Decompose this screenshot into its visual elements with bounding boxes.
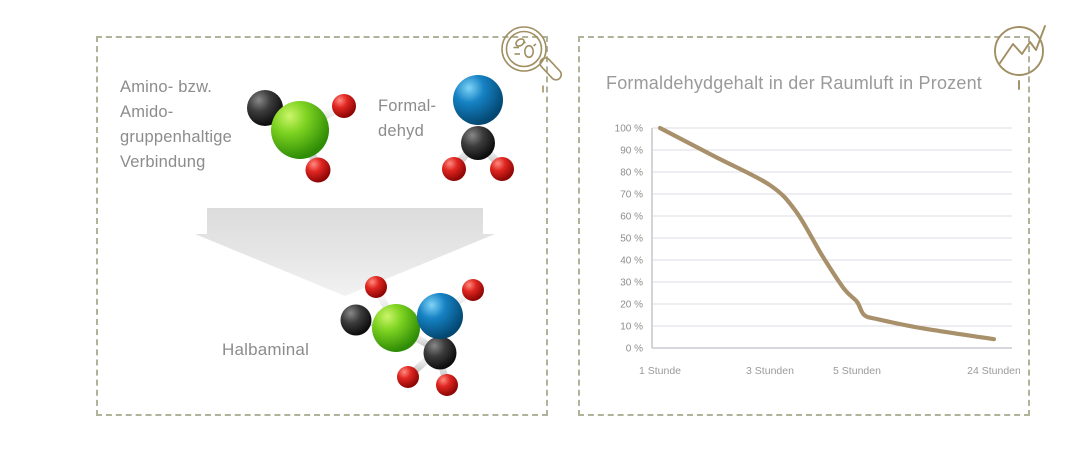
chart-y-tick-label: 10 % [620, 322, 643, 333]
chart-x-tick-label: 3 Stunden [746, 365, 794, 377]
chart-x-tick-label: 5 Stunden [833, 365, 881, 377]
chart-x-tick-label: 24 Stunden [967, 365, 1020, 377]
chart-y-tick-label: 90 % [620, 146, 643, 157]
chart-y-tick-label: 20 % [620, 300, 643, 311]
formaldehyde-molecule [432, 68, 524, 192]
chart-y-tick-label: 70 % [620, 190, 643, 201]
chart-series-line [660, 128, 994, 339]
chart-y-tick-label: 50 % [620, 234, 643, 245]
chart-y-tick-label: 30 % [620, 278, 643, 289]
chart-y-tick-label: 80 % [620, 168, 643, 179]
chart-title: Formaldehydgehalt in der Raumluft in Pro… [606, 73, 982, 94]
line-chart: 100 %90 %80 %70 %60 %50 %40 %30 %20 %10 … [600, 120, 1020, 385]
amine-molecule [232, 76, 372, 196]
halbaminal-molecule [330, 272, 502, 402]
chart-y-tick-label: 100 % [615, 124, 643, 135]
chart-svg: 100 %90 %80 %70 %60 %50 %40 %30 %20 %10 … [600, 120, 1020, 385]
infographic-canvas: Amino- bzw. Amido- gruppenhaltige Verbin… [0, 0, 1080, 462]
chart-y-tick-label: 60 % [620, 212, 643, 223]
chart-y-tick-label: 0 % [626, 344, 643, 355]
chart-x-tick-label: 1 Stunde [639, 365, 681, 377]
trend-line-circle-icon [986, 20, 1060, 94]
chart-y-tick-label: 40 % [620, 256, 643, 267]
